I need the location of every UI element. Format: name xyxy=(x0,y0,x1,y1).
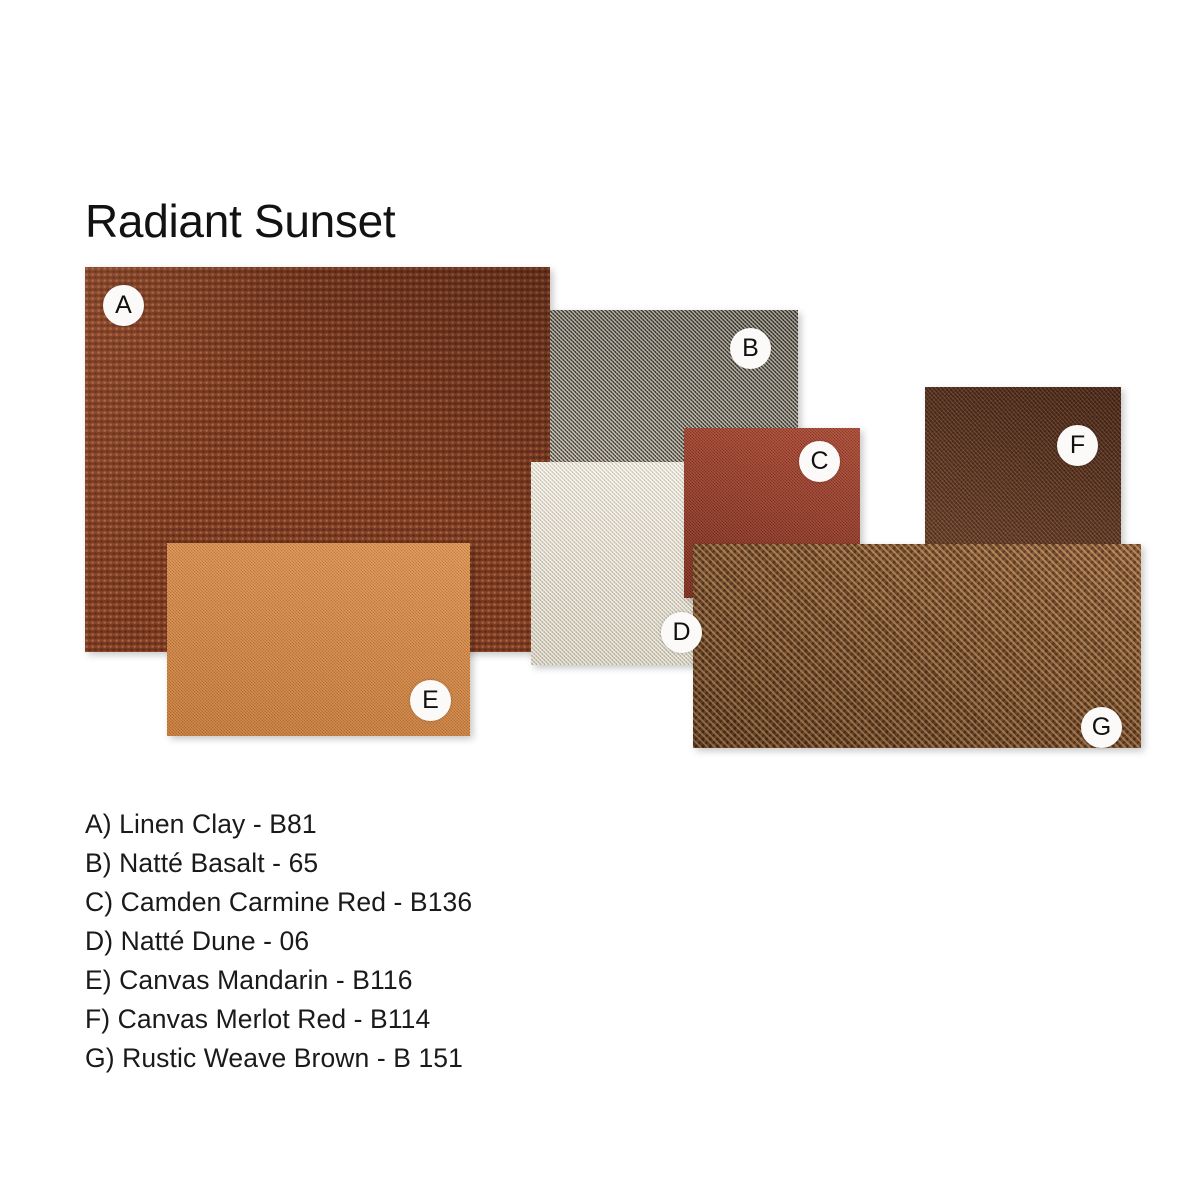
legend-item: B) Natté Basalt - 65 xyxy=(85,844,785,883)
legend-item: A) Linen Clay - B81 xyxy=(85,805,785,844)
swatch-badge-f: F xyxy=(1057,425,1098,466)
swatch-badge-b: B xyxy=(730,328,771,369)
fabric-swatch-f[interactable] xyxy=(925,387,1121,561)
fabric-palette-board: Radiant Sunset A B C D E F G A) Linen Cl… xyxy=(0,0,1200,1200)
swatch-badge-e: E xyxy=(410,680,451,721)
legend-item: C) Camden Carmine Red - B136 xyxy=(85,883,785,922)
swatch-collage: A B C D E F G xyxy=(0,0,1200,790)
legend-item: F) Canvas Merlot Red - B114 xyxy=(85,1000,785,1039)
legend-item: D) Natté Dune - 06 xyxy=(85,922,785,961)
swatch-badge-c: C xyxy=(799,441,840,482)
legend-item: E) Canvas Mandarin - B116 xyxy=(85,961,785,1000)
swatch-badge-g: G xyxy=(1081,707,1122,748)
legend-list: A) Linen Clay - B81 B) Natté Basalt - 65… xyxy=(85,805,785,1078)
fabric-swatch-g[interactable] xyxy=(693,544,1141,748)
swatch-badge-d: D xyxy=(661,612,702,653)
swatch-badge-a: A xyxy=(103,285,144,326)
legend-item: G) Rustic Weave Brown - B 151 xyxy=(85,1039,785,1078)
